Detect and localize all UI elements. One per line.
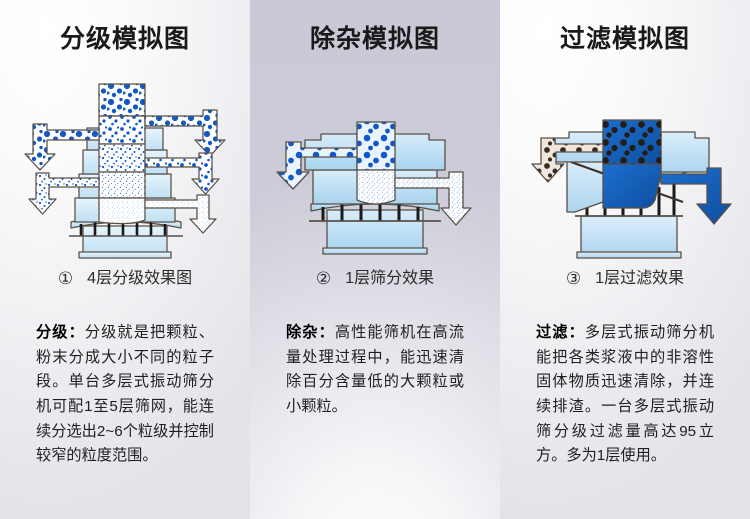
caption-filtering: ③ 1层过滤效果: [566, 270, 684, 287]
description-label-impurity: 除杂：: [286, 324, 335, 341]
diagram-four-layer-grading-sieve: [11, 66, 239, 262]
caption-text-3: 1层过滤效果: [595, 271, 684, 287]
caption-text-2: 1层筛分效果: [345, 271, 434, 287]
screening-sieve-svg: [261, 66, 489, 262]
description-impurity: 除杂：高性能筛机在高流量处理过程中，能迅速清除百分含量低的大颗粒或小颗粒。: [286, 321, 464, 420]
panel-title-impurity: 除杂模拟图: [310, 27, 440, 52]
panel-impurity: 除杂模拟图: [250, 0, 500, 519]
caption-grading: ① 4层分级效果图: [58, 270, 192, 287]
grading-sieve-svg: [11, 66, 239, 262]
description-grading: 分级：分级就是把颗粒、粉末分成大小不同的粒子段。单台多层式振动筛分机可配1至5层…: [36, 321, 214, 469]
panel-grading: 分级模拟图: [0, 0, 250, 519]
caption-text-1: 4层分级效果图: [87, 271, 192, 287]
description-body-filtering: 多层式振动筛分机能把各类浆液中的非溶性固体物质迅速清除，并连续排渣。一台多层式振…: [536, 324, 714, 464]
diagram-single-layer-filter-sieve: [511, 66, 739, 262]
caption-number-3: ③: [566, 270, 581, 287]
diagram-single-layer-screening-sieve: [261, 66, 489, 262]
panel-title-grading: 分级模拟图: [60, 27, 190, 52]
description-label-filtering: 过滤：: [536, 324, 585, 341]
comparison-board: 分级模拟图: [0, 0, 750, 519]
caption-impurity: ② 1层筛分效果: [316, 270, 434, 287]
description-label-grading: 分级：: [36, 324, 85, 341]
panel-title-filtering: 过滤模拟图: [560, 27, 690, 52]
caption-number-2: ②: [316, 270, 331, 287]
panel-filtering: 过滤模拟图: [500, 0, 750, 519]
caption-number-1: ①: [58, 270, 73, 287]
description-body-grading: 分级就是把颗粒、粉末分成大小不同的粒子段。单台多层式振动筛分机可配1至5层筛网，…: [36, 324, 214, 464]
description-filtering: 过滤：多层式振动筛分机能把各类浆液中的非溶性固体物质迅速清除，并连续排渣。一台多…: [536, 321, 714, 469]
filter-sieve-svg: [511, 66, 739, 262]
